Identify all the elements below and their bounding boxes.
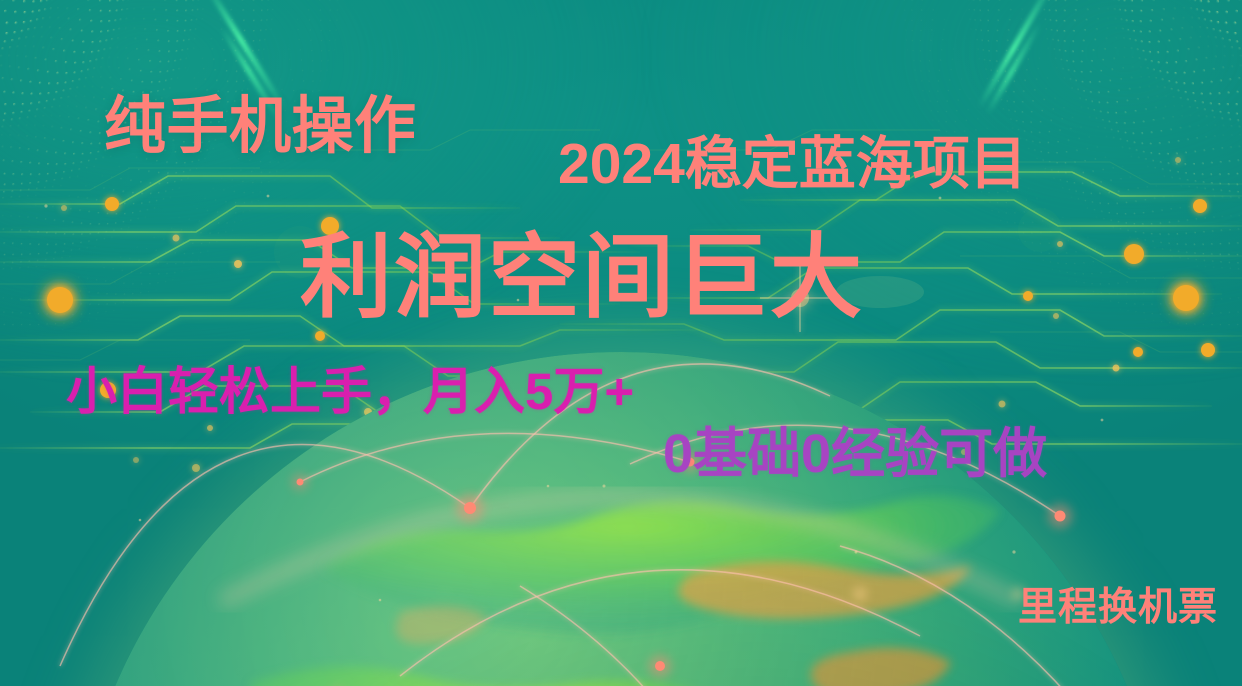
promo-poster: 纯手机操作 2024稳定蓝海项目 利润空间巨大 小白轻松上手，月入5万+ 0基础… [0, 0, 1242, 686]
headline-profit: 利润空间巨大 [300, 232, 864, 324]
headline-pure-phone: 纯手机操作 [104, 96, 417, 158]
background-tint-top-left [0, 0, 671, 398]
subhead-easy-income: 小白轻松上手，月入5万+ [66, 366, 634, 417]
headline-year-project: 2024稳定蓝海项目 [558, 136, 1027, 193]
background-tint-top-right [621, 0, 1242, 398]
tagline-miles-ticket: 里程换机票 [1018, 588, 1218, 627]
subhead-zero-base: 0基础0经验可做 [663, 427, 1047, 481]
